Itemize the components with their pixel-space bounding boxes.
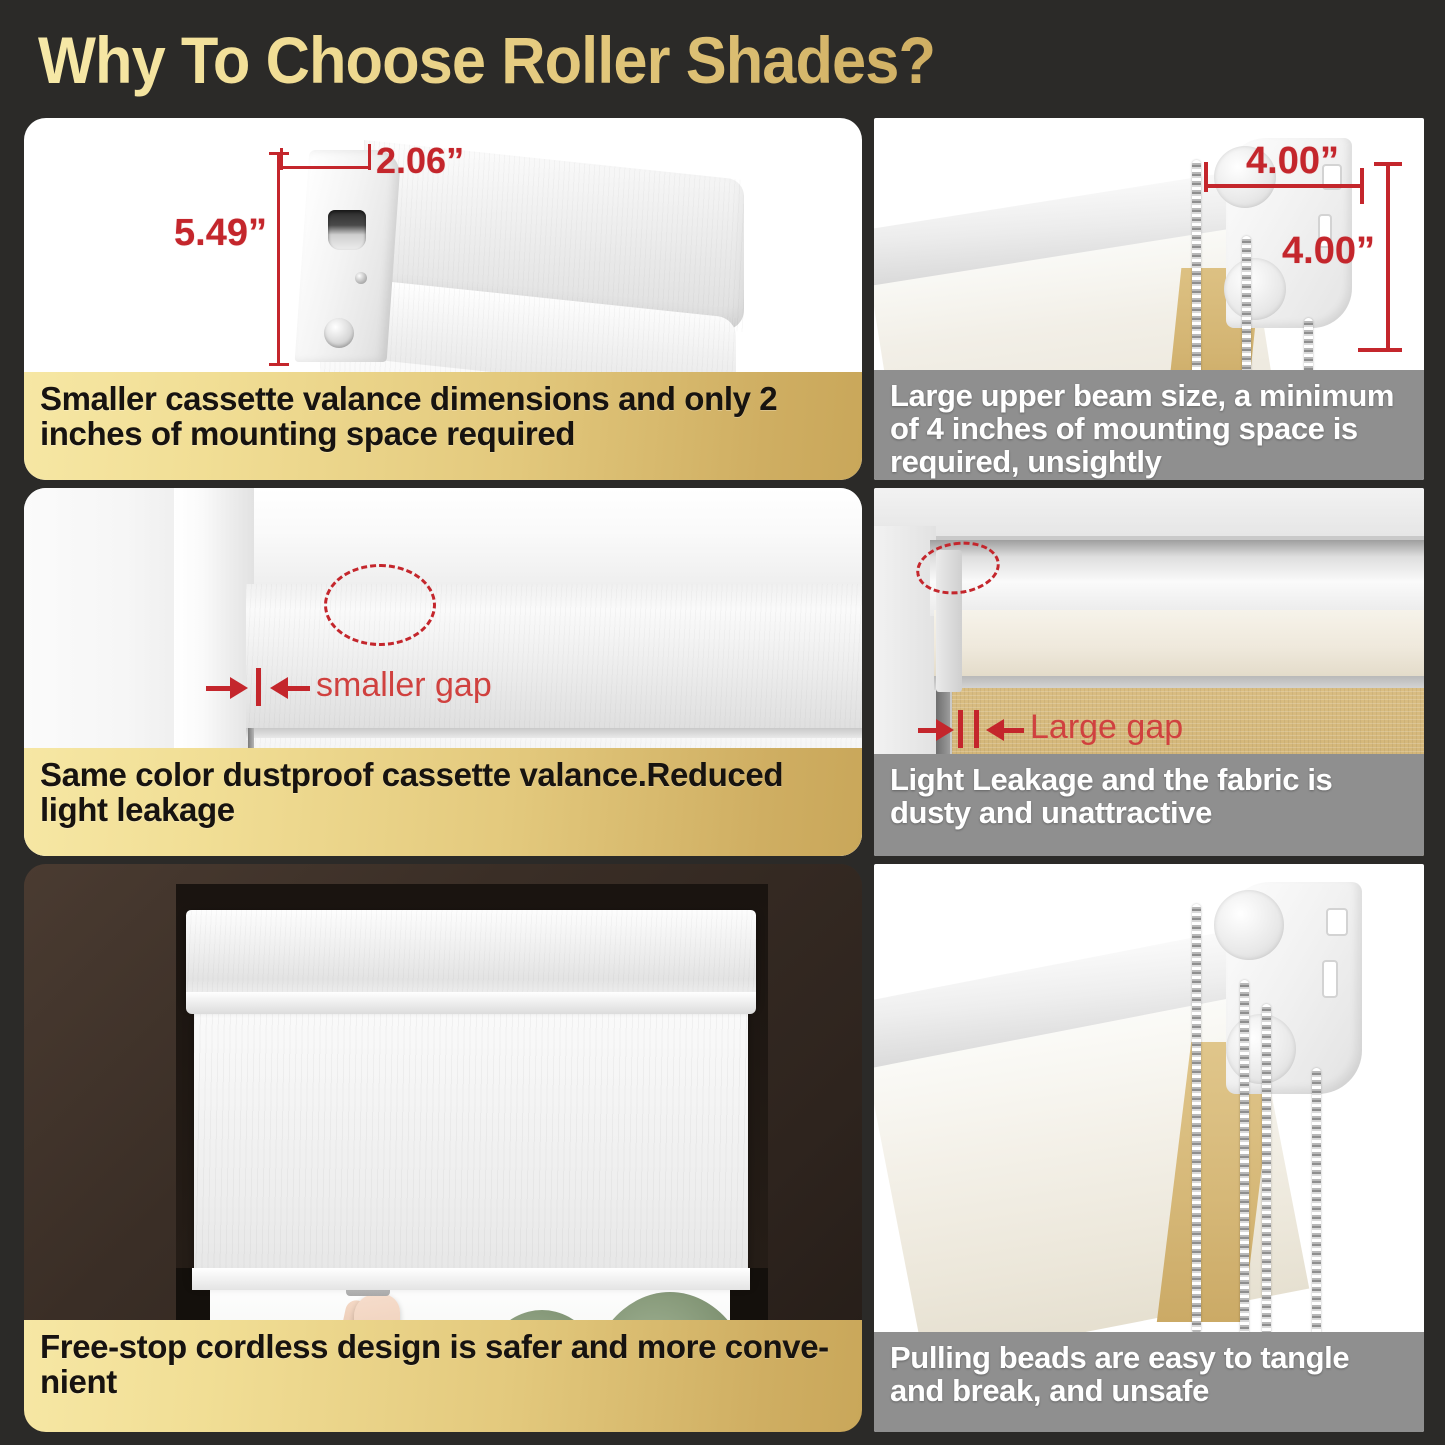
panel-5-cordless-design: Free-stop cordless design is safer and m…	[24, 864, 862, 1432]
end-cap-slot	[328, 210, 366, 250]
panel-2-caption: Large upper beam size, a minimum of 4 in…	[874, 370, 1424, 480]
gap-label: Large gap	[1030, 708, 1183, 747]
panel-1-smaller-cassette: 5.49” 2.06” Smaller cassette valance dim…	[24, 118, 862, 480]
beam-height-tick-top	[1374, 162, 1402, 166]
gap-tick-right	[974, 710, 979, 748]
bracket-tab-upper	[1326, 908, 1348, 936]
panel-4-large-gap: Large gap Light Leakage and the fabric i…	[874, 488, 1424, 856]
head-rail	[930, 540, 1424, 616]
height-dimension-tick-top	[269, 152, 289, 155]
bead-chain-middle	[1242, 236, 1251, 376]
highlight-ellipse	[324, 564, 436, 646]
upper-fabric-bar	[934, 610, 1424, 678]
beam-width-dimension-line	[1204, 184, 1364, 188]
roller-shade-fabric	[194, 1010, 748, 1280]
gap-label: smaller gap	[316, 666, 492, 705]
page-title: Why To Choose Roller Shades?	[38, 22, 935, 98]
width-dimension-tick-left	[280, 148, 283, 170]
panel-3-caption: Same color dustproof cassette valance.Re…	[24, 748, 862, 856]
panel-4-caption: Light Leakage and the fabric is dusty an…	[874, 754, 1424, 856]
panel-6-pulling-beads: Pulling beads are easy to tangle and bre…	[874, 864, 1424, 1432]
bead-chain-right	[1312, 1068, 1321, 1336]
comparison-grid: 5.49” 2.06” Smaller cassette valance dim…	[0, 110, 1445, 1445]
cassette-valance-lip	[186, 992, 756, 1014]
gap-arrow-left	[936, 719, 954, 741]
ceiling-band	[874, 488, 1424, 536]
roller-end-cap-top	[1214, 890, 1284, 960]
panel-5-caption: Free-stop cordless design is safer and m…	[24, 1320, 862, 1432]
beam-height-tick-bottom	[1358, 348, 1402, 352]
panel-1-caption: Smaller cassette valance dimensions and …	[24, 372, 862, 480]
beam-width-tick-right	[1360, 168, 1364, 204]
shade-bottom-bar	[192, 1268, 750, 1290]
roller-end-cap-bottom	[1226, 1014, 1296, 1084]
gap-arrow-left-tail	[206, 686, 232, 691]
end-cap-screw-bottom	[324, 318, 354, 348]
end-cap-screw-top	[355, 272, 367, 284]
gap-tick-left	[958, 710, 963, 748]
beam-width-label: 4.00”	[1246, 140, 1339, 183]
height-dimension-line	[277, 152, 280, 366]
page-header: Why To Choose Roller Shades?	[0, 0, 1445, 110]
bracket-tab-lower	[1322, 960, 1338, 998]
beam-height-dimension-line	[1386, 162, 1390, 352]
gap-arrow-left	[230, 677, 248, 699]
gap-arrow-right-tail	[1002, 728, 1024, 733]
bead-chain-inner	[1262, 1004, 1271, 1336]
width-dimension-label: 2.06”	[376, 140, 464, 182]
panel-2-large-beam: 4.00” 4.00” Large upper beam size, a min…	[874, 118, 1424, 480]
panel-3-smaller-gap: smaller gap Same color dustproof cassett…	[24, 488, 862, 856]
gap-tick-mark	[256, 668, 261, 706]
height-dimension-tick-bottom	[269, 363, 289, 366]
height-dimension-label: 5.49”	[174, 212, 267, 255]
width-dimension-line	[280, 166, 370, 169]
beam-height-label: 4.00”	[1282, 230, 1375, 273]
width-dimension-tick-right	[368, 144, 371, 170]
panel-6-caption: Pulling beads are easy to tangle and bre…	[874, 1332, 1424, 1432]
beam-width-tick-left	[1204, 162, 1208, 192]
bead-chain-middle	[1240, 980, 1249, 1336]
gap-arrow-right-tail	[286, 686, 310, 691]
bead-chain-left	[1192, 160, 1201, 378]
window-frame-top	[174, 488, 862, 584]
roller-end-cap-bottom	[1224, 258, 1286, 320]
bead-chain-left	[1192, 904, 1201, 1334]
